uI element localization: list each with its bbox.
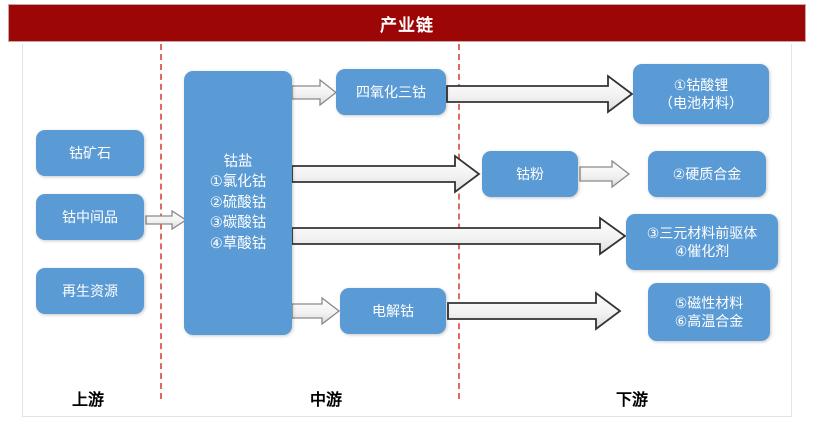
stage-label-downstream: 下游 <box>616 386 648 410</box>
node-cobalt-powder[interactable]: 钴粉 <box>482 151 578 197</box>
node-electrolytic-cobalt[interactable]: 电解钴 <box>340 288 446 334</box>
node-recycled-resources[interactable]: 再生资源 <box>36 268 144 314</box>
node-ternary-precursor[interactable]: ③三元材料前驱体 ④催化剂 <box>626 214 778 270</box>
header-bar: 产业链 <box>8 4 806 42</box>
node-cobalt-ore[interactable]: 钴矿石 <box>36 130 144 176</box>
divider-upstream-midstream <box>160 44 162 399</box>
node-cobalt-intermediate[interactable]: 钴中间品 <box>36 194 144 240</box>
node-magnetic-superalloy[interactable]: ⑤磁性材料 ⑥高温合金 <box>648 283 770 341</box>
stage-label-midstream: 中游 <box>310 386 342 410</box>
page-title: 产业链 <box>380 11 434 36</box>
industry-chain-diagram: 产业链 <box>0 0 814 445</box>
node-cobalt-salt[interactable]: 钴盐 ①氯化钴 ②硫酸钴 ③碳酸钴 ④草酸钴 <box>184 71 292 335</box>
stage-label-upstream: 上游 <box>72 386 104 410</box>
divider-midstream-downstream <box>458 44 460 399</box>
node-cobalt-tetroxide[interactable]: 四氧化三钴 <box>336 69 446 115</box>
node-lithium-cobaltate[interactable]: ①钴酸锂 （电池材料） <box>633 64 769 124</box>
node-cemented-carbide[interactable]: ②硬质合金 <box>648 151 766 197</box>
